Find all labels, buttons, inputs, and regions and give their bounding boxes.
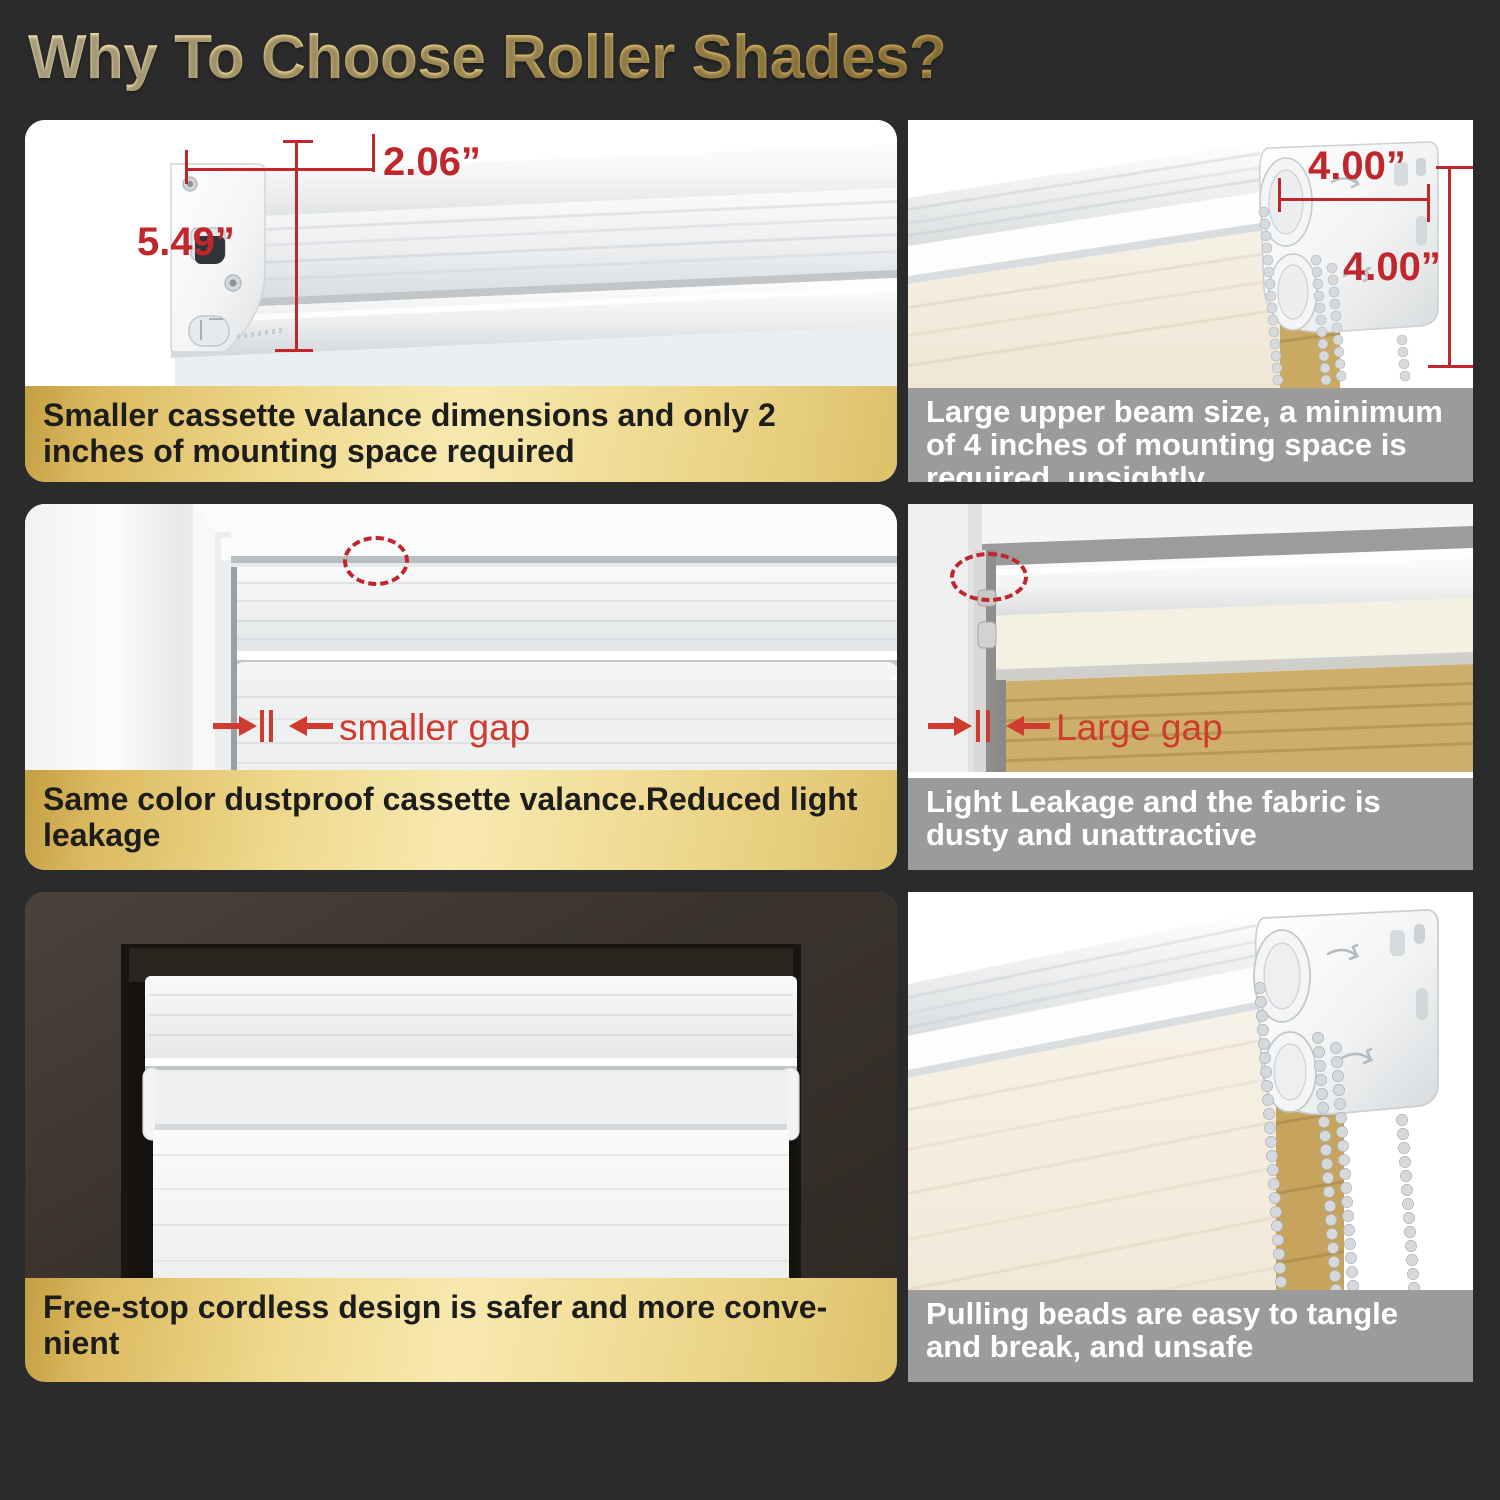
height-dimension-tick-top <box>283 140 313 143</box>
beam-width-dimension-line <box>1278 198 1430 201</box>
gap-highlight-circle <box>343 536 409 586</box>
panel-light-leakage: Large gap Light Leakage and the fabric i… <box>908 504 1473 870</box>
panel-dustproof-valance: smaller gap Same color dustproof cassett… <box>25 504 897 870</box>
height-dimension-label: 5.49” <box>137 220 235 265</box>
panel-1-image: 2.06” 5.49” <box>25 120 897 386</box>
page-title: Why To Choose Roller Shades? <box>28 22 946 93</box>
panel-cordless-design: Free-stop cordless design is safer and m… <box>25 892 897 1382</box>
width-dimension-tick-right <box>372 134 375 172</box>
panel-cassette-dimensions: 2.06” 5.49” Smaller cassette valance dim… <box>25 120 897 482</box>
panel-3-image: smaller gap <box>25 504 897 770</box>
height-dimension-tick-bottom <box>275 349 313 352</box>
panel-5-caption: Free-stop cordless design is safer and m… <box>25 1278 897 1382</box>
panel-3-caption: Same color dustproof cassette valance.Re… <box>25 770 897 870</box>
panel-2-caption: Large upper beam size, a minimum of 4 in… <box>908 388 1473 482</box>
panel-4-caption: Light Leakage and the fabric is dusty an… <box>908 778 1473 870</box>
panel-1-caption: Smaller cassette valance dimensions and … <box>25 386 897 482</box>
width-dimension-tick-left <box>185 150 188 184</box>
beam-height-dimension-line <box>1448 166 1451 368</box>
height-dimension-line <box>295 140 298 352</box>
panel-upper-beam-size: 4.00” 4.00” Large upper beam size, a min… <box>908 120 1473 482</box>
beam-height-tick-bottom <box>1428 365 1473 368</box>
beam-width-dimension-label: 4.00” <box>1308 144 1406 189</box>
large-gap-label: Large gap <box>1056 707 1223 749</box>
panel-pulling-beads: Pulling beads are easy to tangle and bre… <box>908 892 1473 1382</box>
gap-highlight-circle <box>950 552 1028 602</box>
beam-height-dimension-label: 4.00” <box>1343 245 1441 290</box>
smaller-gap-label: smaller gap <box>339 707 530 749</box>
panel-4-image: Large gap <box>908 504 1473 772</box>
beam-height-tick-top <box>1436 166 1473 169</box>
beam-width-tick-left <box>1278 178 1281 212</box>
width-dimension-label: 2.06” <box>383 140 481 185</box>
width-dimension-line <box>185 168 375 171</box>
beam-width-tick-right <box>1427 184 1430 222</box>
panel-2-image: 4.00” 4.00” <box>908 120 1473 388</box>
panel-6-caption: Pulling beads are easy to tangle and bre… <box>908 1290 1473 1382</box>
infographic-root: Why To Choose Roller Shades? <box>0 0 1500 1500</box>
